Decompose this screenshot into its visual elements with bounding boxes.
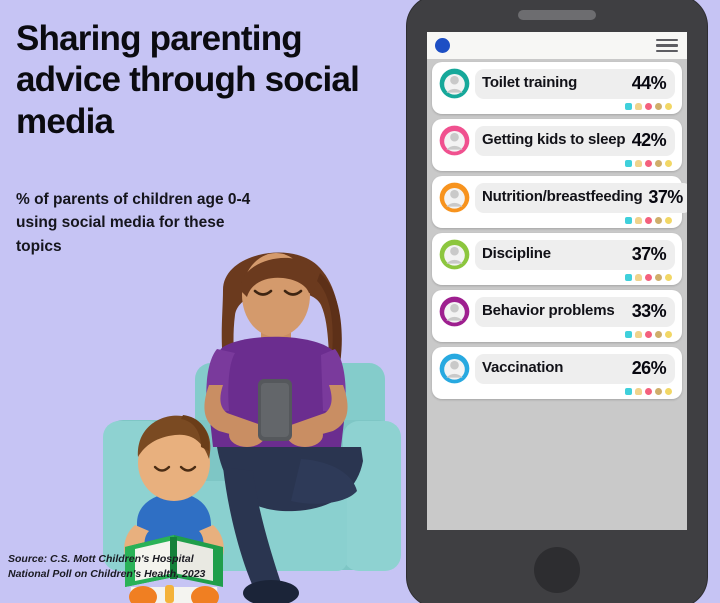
topic-label: Vaccination (482, 360, 563, 377)
topic-label: Discipline (482, 246, 551, 263)
topic-percentage: 37% (648, 187, 682, 208)
smile-reaction-icon[interactable] (665, 331, 672, 338)
topic-percentage: 42% (632, 130, 666, 151)
face-reaction-icon[interactable] (655, 331, 662, 338)
face-reaction-icon[interactable] (655, 388, 662, 395)
heart-reaction-icon[interactable] (645, 274, 652, 281)
left-text-panel: Sharing parenting advice through social … (0, 0, 410, 603)
person-avatar-icon (438, 238, 471, 271)
card-main-row: Discipline 37% (438, 238, 675, 271)
app-top-bar (427, 32, 687, 59)
smile-reaction-icon[interactable] (665, 274, 672, 281)
list-item[interactable]: Discipline 37% (432, 233, 682, 285)
phone-screen: Toilet training 44% (427, 32, 687, 530)
list-item[interactable]: Vaccination 26% (432, 347, 682, 399)
phone-mockup: Toilet training 44% (407, 0, 707, 603)
subtitle-text: % of parents of children age 0-4 using s… (16, 188, 266, 258)
reaction-icons[interactable] (438, 157, 675, 167)
phone-home-button[interactable] (534, 547, 580, 593)
person-avatar-icon (438, 67, 471, 100)
hand-reaction-icon[interactable] (635, 331, 642, 338)
hand-reaction-icon[interactable] (635, 217, 642, 224)
reaction-icons[interactable] (438, 100, 675, 110)
card-main-row: Toilet training 44% (438, 67, 675, 100)
topics-feed-list: Toilet training 44% (427, 59, 687, 403)
topic-label: Behavior problems (482, 303, 614, 320)
heart-reaction-icon[interactable] (645, 388, 652, 395)
smile-reaction-icon[interactable] (665, 103, 672, 110)
card-main-row: Nutrition/breastfeeding 37% (438, 181, 675, 214)
reaction-icons[interactable] (438, 271, 675, 281)
heart-reaction-icon[interactable] (645, 160, 652, 167)
face-reaction-icon[interactable] (655, 103, 662, 110)
list-item[interactable]: Toilet training 44% (432, 62, 682, 114)
page-title: Sharing parenting advice through social … (16, 18, 396, 142)
reaction-icons[interactable] (438, 385, 675, 395)
topic-pill: Vaccination 26% (475, 354, 675, 384)
person-avatar-icon (438, 124, 471, 157)
topic-pill: Getting kids to sleep 42% (475, 126, 675, 156)
list-item[interactable]: Nutrition/breastfeeding 37% (432, 176, 682, 228)
topic-pill: Behavior problems 33% (475, 297, 675, 327)
smile-reaction-icon[interactable] (665, 217, 672, 224)
topic-percentage: 44% (632, 73, 666, 94)
hand-reaction-icon[interactable] (635, 274, 642, 281)
list-item[interactable]: Getting kids to sleep 42% (432, 119, 682, 171)
topic-percentage: 37% (632, 244, 666, 265)
topic-label: Getting kids to sleep (482, 132, 625, 149)
hand-reaction-icon[interactable] (635, 388, 642, 395)
app-logo-icon[interactable] (435, 38, 450, 53)
topic-percentage: 33% (632, 301, 666, 322)
topic-label: Toilet training (482, 75, 577, 92)
person-avatar-icon (438, 352, 471, 385)
face-reaction-icon[interactable] (655, 160, 662, 167)
topic-label: Nutrition/breastfeeding (482, 189, 642, 206)
topic-pill: Toilet training 44% (475, 69, 675, 99)
list-item[interactable]: Behavior problems 33% (432, 290, 682, 342)
heart-reaction-icon[interactable] (645, 217, 652, 224)
heart-reaction-icon[interactable] (645, 103, 652, 110)
reaction-icons[interactable] (438, 328, 675, 338)
hand-reaction-icon[interactable] (635, 103, 642, 110)
person-avatar-icon (438, 181, 471, 214)
infographic-canvas: Sharing parenting advice through social … (0, 0, 720, 603)
source-citation: Source: C.S. Mott Children's Hospital Na… (8, 552, 218, 582)
message-reaction-icon[interactable] (625, 274, 632, 281)
card-main-row: Vaccination 26% (438, 352, 675, 385)
card-main-row: Getting kids to sleep 42% (438, 124, 675, 157)
smile-reaction-icon[interactable] (665, 388, 672, 395)
message-reaction-icon[interactable] (625, 103, 632, 110)
message-reaction-icon[interactable] (625, 331, 632, 338)
hand-reaction-icon[interactable] (635, 160, 642, 167)
topic-pill: Discipline 37% (475, 240, 675, 270)
card-main-row: Behavior problems 33% (438, 295, 675, 328)
smile-reaction-icon[interactable] (665, 160, 672, 167)
heart-reaction-icon[interactable] (645, 331, 652, 338)
phone-speaker-icon (518, 10, 596, 20)
reaction-icons[interactable] (438, 214, 675, 224)
message-reaction-icon[interactable] (625, 388, 632, 395)
message-reaction-icon[interactable] (625, 160, 632, 167)
topic-pill: Nutrition/breastfeeding 37% (475, 183, 687, 213)
face-reaction-icon[interactable] (655, 274, 662, 281)
face-reaction-icon[interactable] (655, 217, 662, 224)
topic-percentage: 26% (632, 358, 666, 379)
person-avatar-icon (438, 295, 471, 328)
hamburger-menu-icon[interactable] (656, 39, 678, 53)
message-reaction-icon[interactable] (625, 217, 632, 224)
